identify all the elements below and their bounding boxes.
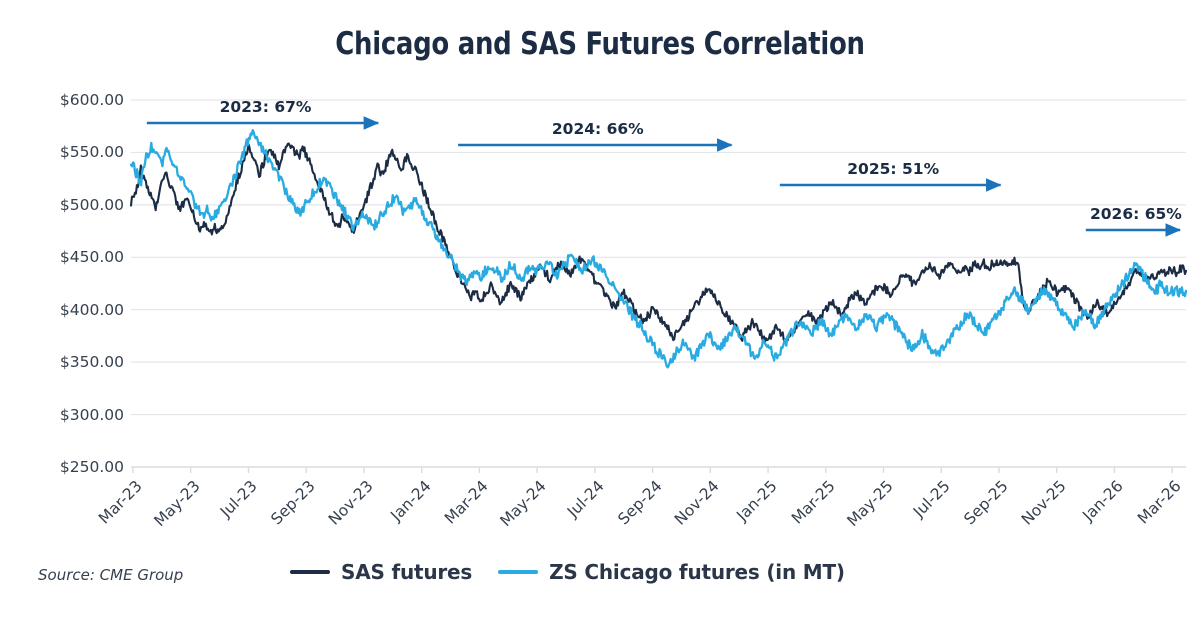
legend-item-sas[interactable]: SAS futures <box>290 560 472 584</box>
source-note: Source: CME Group <box>38 566 183 584</box>
annotation-label-0: 2023: 67% <box>220 98 312 116</box>
legend-swatch-icon <box>498 570 538 574</box>
annotation-label-2: 2025: 51% <box>847 160 939 178</box>
legend-label: SAS futures <box>341 560 472 584</box>
chart-legend: SAS futuresZS Chicago futures (in MT) <box>290 560 845 584</box>
annotation-label-3: 2026: 65% <box>1090 205 1182 223</box>
legend-label: ZS Chicago futures (in MT) <box>549 560 845 584</box>
legend-item-zs[interactable]: ZS Chicago futures (in MT) <box>498 560 845 584</box>
annotation-labels: 2023: 67%2024: 66%2025: 51%2026: 65% <box>0 0 1200 627</box>
chart-container: Chicago and SAS Futures Correlation $600… <box>0 0 1200 627</box>
legend-swatch-icon <box>290 570 330 574</box>
annotation-label-1: 2024: 66% <box>552 120 644 138</box>
